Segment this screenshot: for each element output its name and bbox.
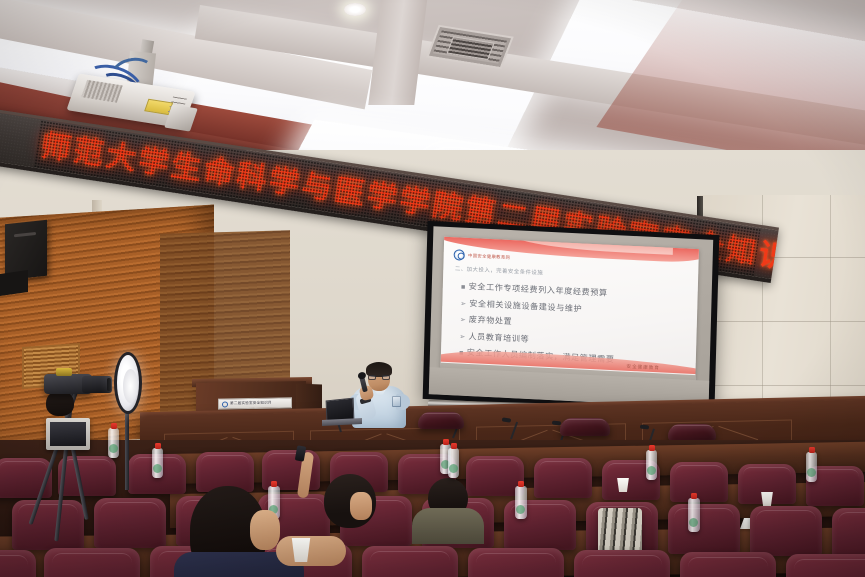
audience-member-arm (276, 536, 346, 566)
camera-lens-icon (82, 376, 112, 393)
audience-seat (680, 552, 776, 577)
ceiling-downlight (344, 3, 366, 16)
speaker-mount-bracket (0, 270, 28, 296)
bullet-text: 人员教育培训等 (468, 332, 529, 343)
screen-surface: 中国安全健康教育网 二、加大投入，完善安全条件设施 ▪ 安全工作专项经费列入年度… (429, 226, 713, 408)
slide-logo: 中国安全健康教育网 (454, 249, 511, 263)
ring-light (114, 352, 142, 414)
bullet-marker-icon: ➢ (460, 317, 467, 324)
water-bottle (806, 452, 817, 482)
light-stand (125, 412, 129, 490)
eyeglasses-icon (368, 375, 390, 380)
presenter-shoulder-badge (392, 396, 401, 407)
lectern-sign: 第二届实验室安全知识月 (218, 397, 292, 409)
presentation-slide: 中国安全健康教育网 二、加大投入，完善安全条件设施 ▪ 安全工作专项经费列入年度… (440, 237, 698, 389)
audience-seat (94, 498, 166, 548)
lecture-hall-scene: 师范大学生命科学与医学学院第二届实验室安全知识月开幕式 中国安全健康教育网 二、… (0, 0, 865, 577)
audience-seat (750, 506, 822, 556)
audience-seat (534, 458, 592, 498)
water-bottle (515, 486, 527, 519)
lectern-sign-logo-icon (222, 401, 228, 407)
bullet-marker-icon: ➢ (459, 333, 466, 340)
stage-chair (560, 418, 610, 436)
audience-seat (58, 456, 116, 496)
stage-chair (418, 412, 464, 429)
audience-member-face (350, 492, 372, 520)
audience-seat (574, 550, 670, 577)
bullet-text: 安全工作专项经费列入年度经费预算 (469, 282, 608, 297)
audience-seat (44, 548, 140, 577)
audience-seat (786, 554, 865, 577)
water-bottle (448, 448, 459, 478)
projection-screen: 中国安全健康教育网 二、加大投入，完善安全条件设施 ▪ 安全工作专项经费列入年度… (423, 221, 720, 413)
projector-vent (81, 80, 123, 103)
water-bottle (108, 428, 119, 458)
stage-chair (668, 424, 716, 441)
audience-seat (468, 548, 564, 577)
audience-member-shoulders (412, 508, 484, 544)
water-bottle (688, 498, 700, 532)
water-bottle (152, 448, 163, 478)
audience-seat (668, 504, 740, 554)
audience-seat (12, 500, 84, 550)
organization-seal-icon (454, 249, 465, 261)
slide-logo-text: 中国安全健康教育网 (468, 252, 510, 260)
audience-seat (832, 508, 865, 558)
audience-seat (0, 550, 36, 577)
microphone-head-icon (640, 425, 649, 430)
field-monitor (46, 418, 90, 450)
audience-seat (670, 462, 728, 502)
slide-section-heading: 二、加大投入，完善安全条件设施 (455, 264, 544, 276)
audience-seat (362, 546, 458, 577)
bullet-marker-icon: ➢ (460, 300, 467, 307)
camera-accessory (56, 368, 72, 376)
bullet-text: 废弃物处置 (469, 315, 513, 325)
audience-member-face (250, 510, 280, 550)
bullet-text: 安全相关设施设备建设与维护 (469, 299, 582, 313)
water-bottle (646, 450, 657, 480)
microphone-head-icon (552, 421, 561, 426)
bullet-marker-icon: ▪ (461, 284, 467, 291)
lectern-sign-text: 第二届实验室安全知识月 (230, 401, 272, 407)
